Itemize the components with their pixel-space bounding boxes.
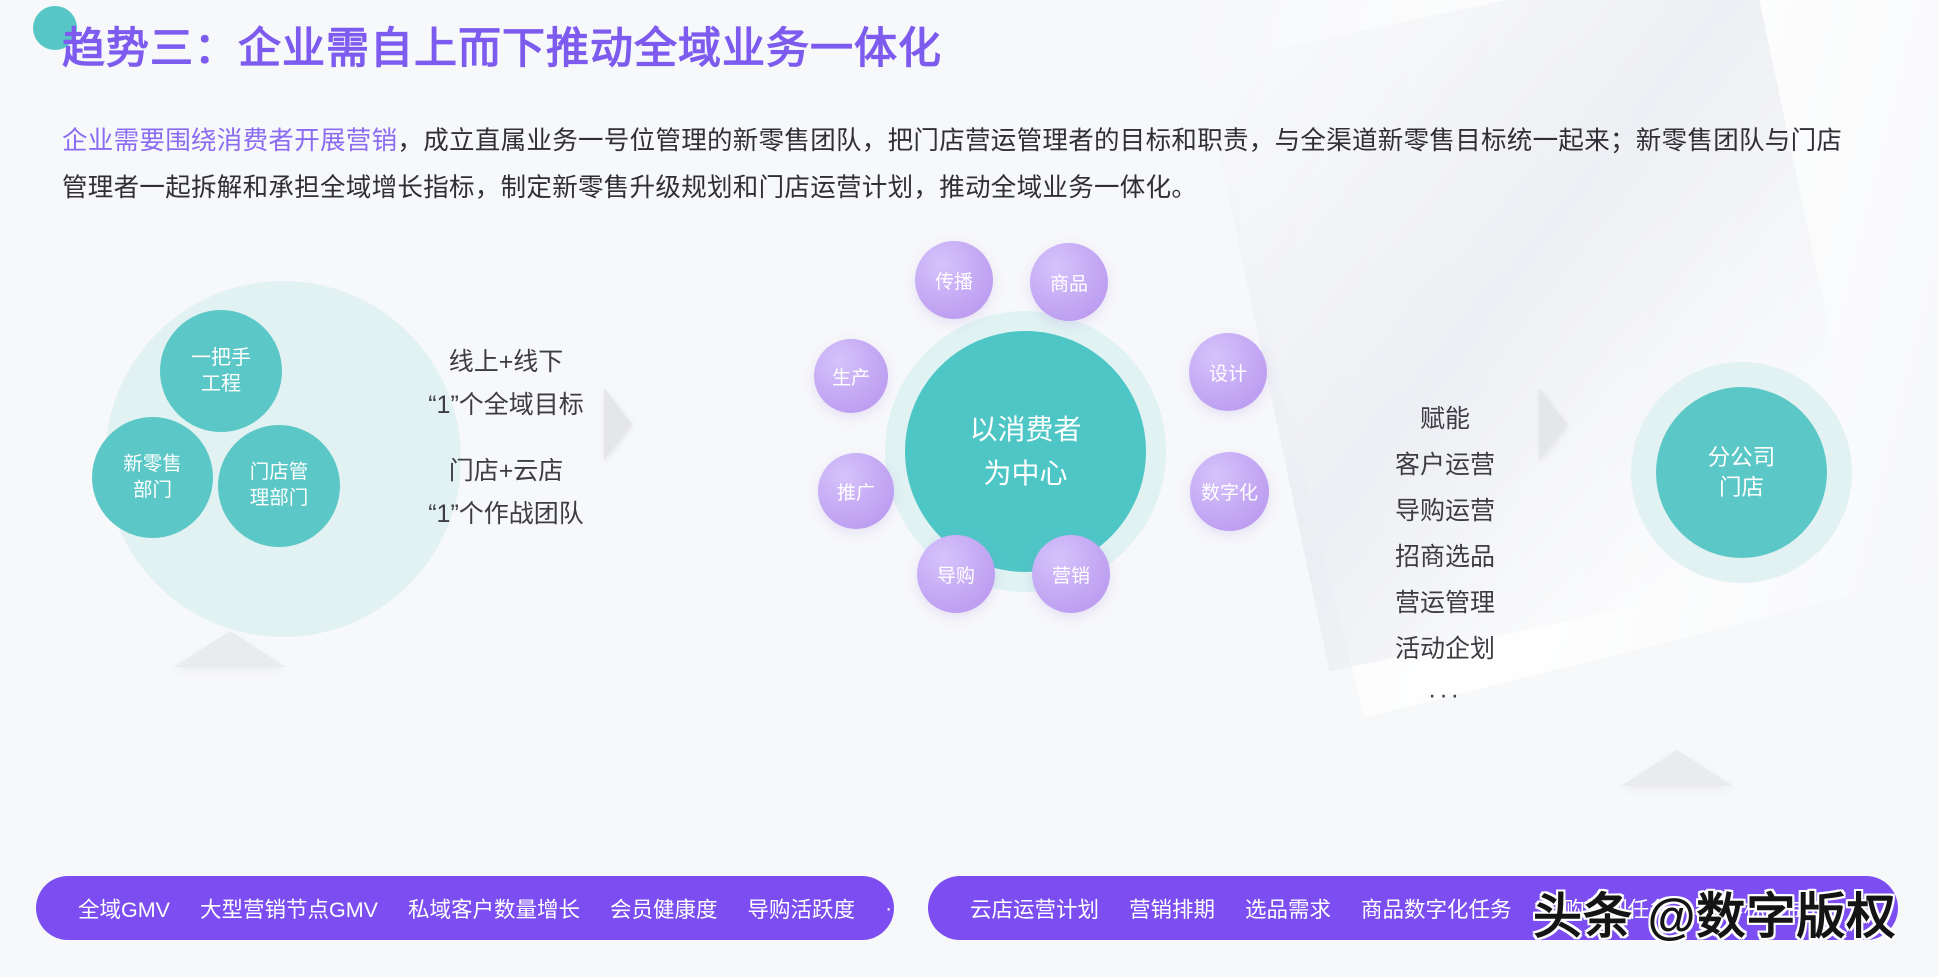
chevron-up-icon-1	[174, 631, 286, 667]
mid-copy-goal: 线上+线下 “1”个全域目标	[406, 341, 606, 427]
center-core-line2: 为中心	[983, 452, 1067, 495]
kpi-pill-left-ellipsis: ···	[885, 896, 894, 921]
center-core-line1: 以消费者	[969, 408, 1081, 451]
intro-paragraph: 企业需要围绕消费者开展营销，成立直属业务一号位管理的新零售团队，把门店营运管理者…	[62, 118, 1862, 212]
right-core-line1: 分公司	[1708, 443, 1776, 473]
satellite-node-production: 生产	[814, 339, 888, 413]
capability-item-campaign-planning: 活动企划	[1355, 626, 1535, 672]
capability-list-ellipsis: ···	[1355, 672, 1535, 718]
right-core-line2: 门店	[1719, 473, 1764, 503]
chevron-up-icon-2	[1621, 750, 1733, 786]
task-item-guide-training: 导购培训任务	[1542, 893, 1671, 924]
page-title: 趋势三：企业需自上而下推动全域业务一体化	[62, 14, 942, 76]
kpi-item-guide-activity: 导购活跃度	[748, 893, 856, 924]
center-node-consumer-centric: 以消费者 为中心	[905, 331, 1146, 572]
mid-copy-team: 门店+云店 “1”个作战团队	[406, 450, 606, 536]
kpi-pill-left: 全域GMV 大型营销节点GMV 私域客户数量增长 会员健康度 导购活跃度 ···	[36, 876, 894, 940]
node-label-line1: 一把手	[191, 345, 251, 371]
background-sheen-primary	[1180, 0, 1939, 718]
node-label-line1: 门店管	[250, 460, 309, 486]
satellite-node-marketing: 营销	[1032, 535, 1110, 613]
node-label-line2: 部门	[133, 478, 172, 504]
satellite-node-design: 设计	[1189, 333, 1267, 411]
intro-highlight: 企业需要围绕消费者开展营销	[62, 127, 397, 155]
mid-copy-team-line1: 门店+云店	[406, 450, 606, 493]
node-label-line2: 理部门	[250, 486, 309, 512]
capability-list: 赋能 客户运营 导购运营 招商选品 营运管理 活动企划 ···	[1355, 396, 1535, 718]
mid-copy-goal-line2: “1”个全域目标	[406, 384, 606, 427]
task-item-selection-demand: 选品需求	[1245, 893, 1331, 924]
kpi-item-total-gmv: 全域GMV	[78, 893, 170, 924]
node-label-line1: 新零售	[123, 452, 182, 478]
mid-copy-team-line2: “1”个作战团队	[406, 493, 606, 536]
capability-item-merchant-selection: 招商选品	[1355, 534, 1535, 580]
satellite-node-digitization: 数字化	[1190, 452, 1269, 531]
task-item-content-standard: 内容标准制定	[1701, 893, 1830, 924]
capability-item-guide-ops: 导购运营	[1355, 488, 1535, 534]
task-item-cloud-store-plan: 云店运营计划	[970, 893, 1099, 924]
capability-item-operations-mgmt: 营运管理	[1355, 580, 1535, 626]
satellite-node-communication: 传播	[915, 241, 993, 319]
mid-copy-goal-line1: 线上+线下	[406, 341, 606, 384]
left-node-leadership: 一把手 工程	[160, 310, 282, 432]
satellite-node-merchandise: 商品	[1030, 243, 1108, 321]
kpi-item-member-health: 会员健康度	[610, 893, 718, 924]
kpi-item-campaign-gmv: 大型营销节点GMV	[200, 893, 378, 924]
node-label-line2: 工程	[201, 371, 241, 397]
task-pill-right: 云店运营计划 营销排期 选品需求 商品数字化任务 导购培训任务 内容标准制定	[928, 876, 1898, 940]
chevron-right-icon-2	[1539, 388, 1567, 460]
chevron-right-icon-1	[604, 388, 632, 460]
task-item-product-digitization: 商品数字化任务	[1361, 893, 1512, 924]
left-node-new-retail-dept: 新零售 部门	[92, 417, 213, 538]
right-node-branch-store: 分公司 门店	[1656, 387, 1827, 558]
capability-item-customer-ops: 客户运营	[1355, 442, 1535, 488]
satellite-node-shopping-guide: 导购	[917, 535, 995, 613]
kpi-item-private-customer-growth: 私域客户数量增长	[408, 893, 580, 924]
capability-item-empowerment: 赋能	[1355, 396, 1535, 442]
left-node-store-mgmt-dept: 门店管 理部门	[218, 425, 340, 547]
satellite-node-promotion: 推广	[818, 453, 894, 529]
task-item-marketing-schedule: 营销排期	[1129, 893, 1215, 924]
